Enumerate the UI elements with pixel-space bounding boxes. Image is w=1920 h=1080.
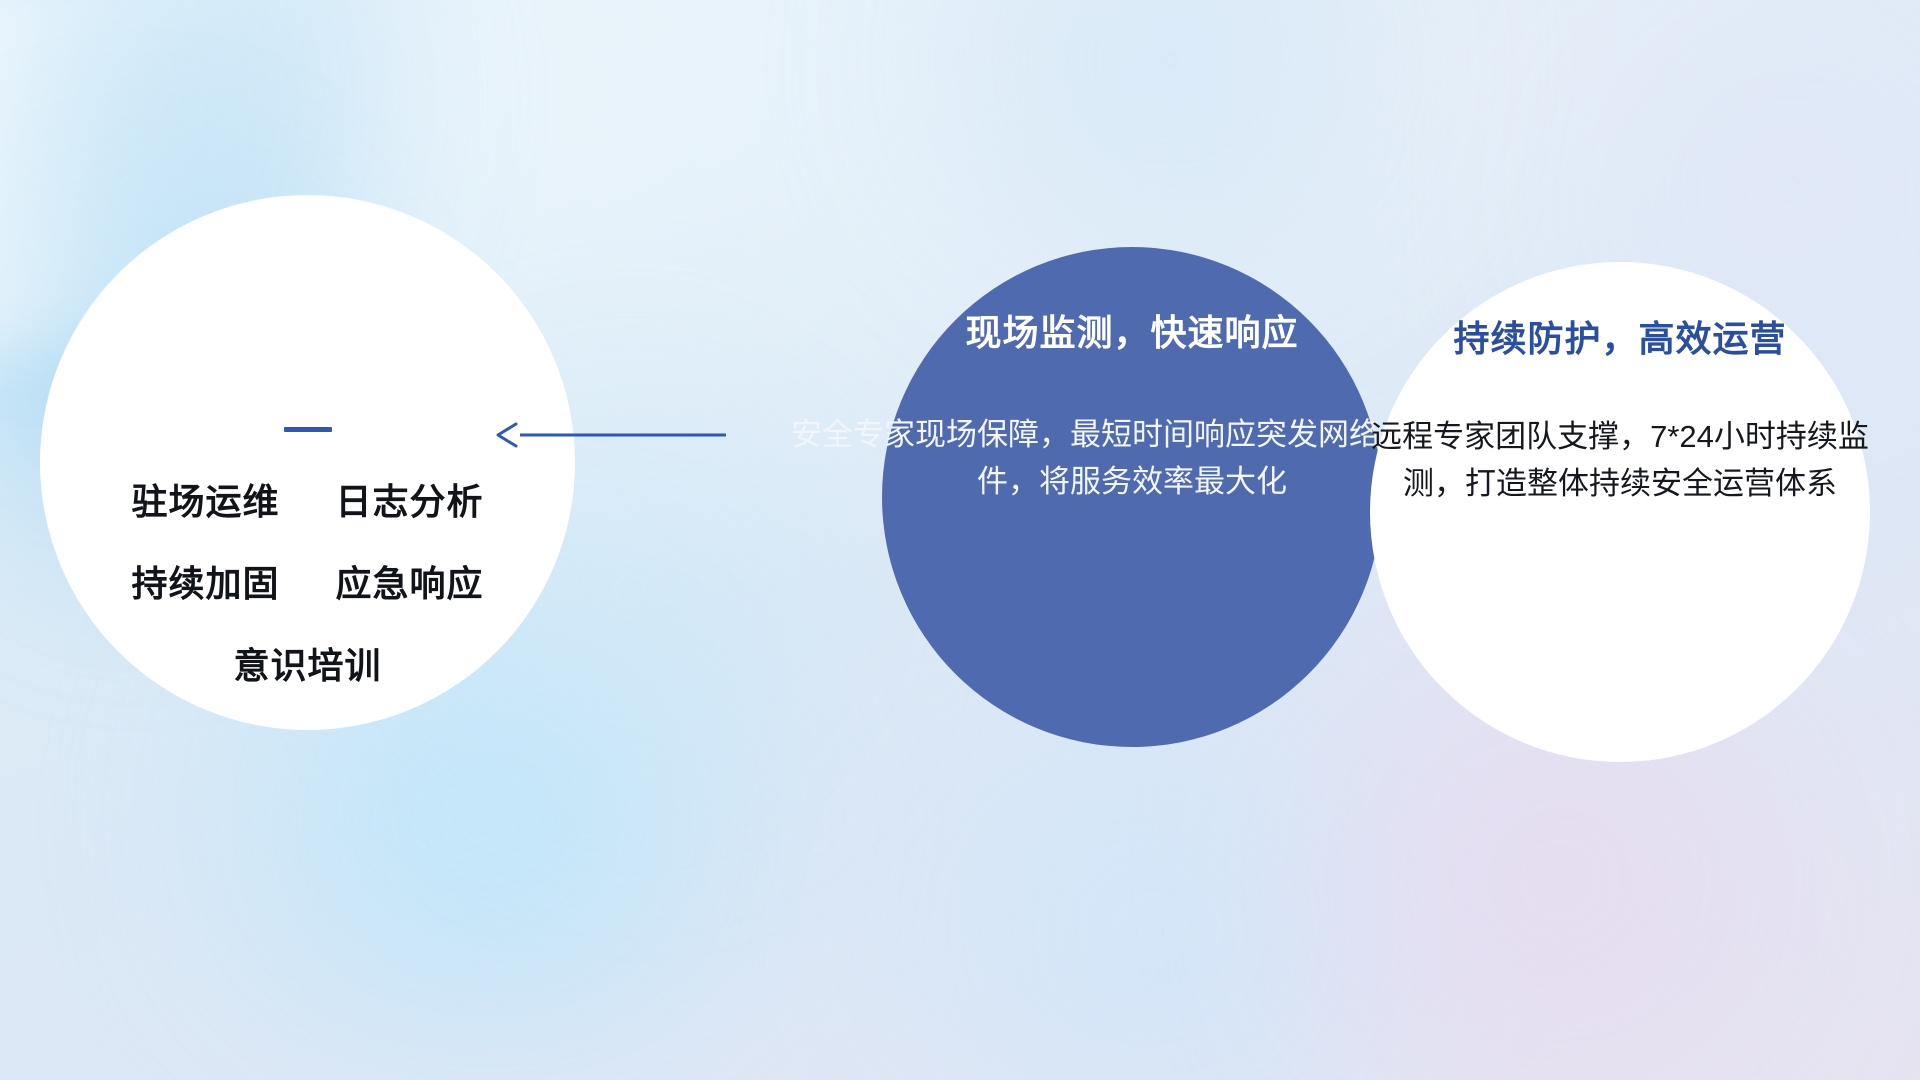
- keyword-item: 日志分析: [336, 481, 484, 522]
- right-circle-title: 持续防护，高效运营: [1370, 310, 1870, 362]
- right-white-circle: 持续防护，高效运营 远程专家团队支撑，7*24小时持续监测，打造整体持续安全运营…: [1370, 262, 1870, 762]
- left-circle-content: 驻场运维 日志分析 持续加固 应急响应 意识培训: [40, 427, 575, 684]
- mid-blue-circle: 现场监测，快速响应 安全专家现场保障，最短时间响应突发网络安全事件，将服务效率最…: [882, 247, 1382, 747]
- keyword-row: 持续加固 应急响应: [40, 566, 575, 602]
- left-keyword-circle: 驻场运维 日志分析 持续加固 应急响应 意识培训: [40, 195, 575, 730]
- right-circle-body: 远程专家团队支撑，7*24小时持续监测，打造整体持续安全运营体系: [1348, 414, 1892, 507]
- flow-arrow-icon: [486, 418, 726, 452]
- divider-dash: [284, 427, 332, 432]
- keyword-item: 应急响应: [336, 563, 484, 604]
- keyword-row: 驻场运维 日志分析: [40, 484, 575, 520]
- slide-canvas: 驻场运维 日志分析 持续加固 应急响应 意识培训 现场监测，快速响应 安全专家现…: [0, 0, 1920, 1080]
- keyword-item: 持续加固: [131, 563, 279, 604]
- keyword-item: 意识培训: [233, 645, 381, 686]
- keyword-item: 驻场运维: [131, 481, 279, 522]
- keyword-row: 意识培训: [40, 648, 575, 684]
